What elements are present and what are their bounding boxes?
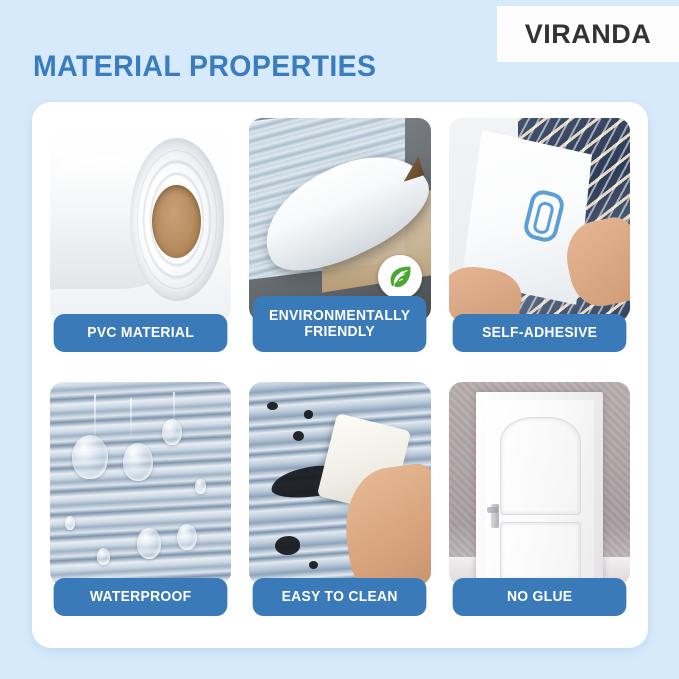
pvc-roll-image (50, 118, 231, 321)
green-leaf-eco-icon (378, 255, 422, 299)
feature-label-no-glue: NO GLUE (452, 578, 626, 616)
no-glue-door-image (449, 382, 630, 585)
self-adhesive-image (449, 118, 630, 321)
feature-label-waterproof: WATERPROOF (54, 578, 228, 616)
feature-cell-no-glue[interactable]: NO GLUE (449, 382, 630, 632)
feature-cell-pvc-material[interactable]: PVC MATERIAL (50, 118, 231, 368)
feature-label-pvc-material: PVC MATERIAL (54, 314, 228, 352)
page-title: MATERIAL PROPERTIES (33, 50, 376, 84)
feature-cell-easy-to-clean[interactable]: EASY TO CLEAN (249, 382, 430, 632)
waterproof-image (50, 382, 231, 585)
eco-peel-image (249, 118, 430, 321)
feature-cell-self-adhesive[interactable]: SELF-ADHESIVE (449, 118, 630, 368)
brand-logo-text: VIRANDA (525, 19, 652, 50)
feature-label-environmentally-friendly: ENVIRONMENTALLY FRIENDLY (253, 296, 427, 352)
easy-to-clean-image (249, 382, 430, 585)
feature-cell-waterproof[interactable]: WATERPROOF (50, 382, 231, 632)
feature-card: PVC MATERIAL (32, 102, 648, 648)
feature-cell-environmentally-friendly[interactable]: ENVIRONMENTALLY FRIENDLY (249, 118, 430, 368)
feature-label-self-adhesive: SELF-ADHESIVE (452, 314, 626, 352)
feature-label-easy-to-clean: EASY TO CLEAN (253, 578, 427, 616)
feature-label-line-1: ENVIRONMENTALLY (269, 308, 410, 324)
feature-label-line-2: FRIENDLY (305, 324, 376, 340)
feature-grid: PVC MATERIAL (50, 118, 630, 632)
brand-logo-box: VIRANDA (497, 6, 679, 62)
